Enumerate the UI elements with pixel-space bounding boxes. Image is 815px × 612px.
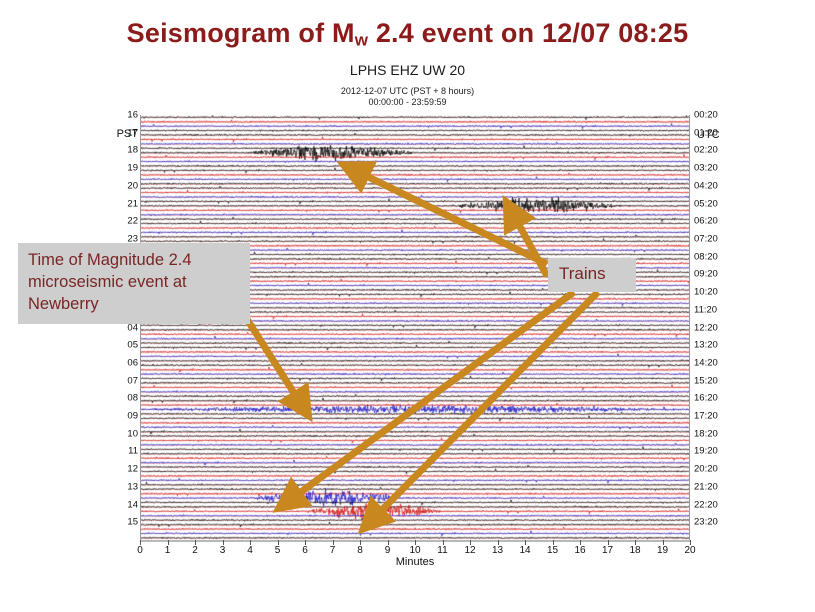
axis-right-tick: 06:20 — [694, 216, 718, 227]
axis-left-tick: 11 — [128, 446, 138, 457]
axis-bottom-label: 20 — [684, 545, 695, 556]
title-text-pre: Seismogram of M — [127, 18, 355, 48]
axis-right-tick: 12:20 — [694, 322, 718, 333]
axis-right-tick: 23:20 — [694, 517, 718, 528]
axis-bottom-label: 10 — [409, 545, 420, 556]
axis-bottom-label: 19 — [657, 545, 668, 556]
axis-left-tick: 15 — [127, 517, 138, 528]
axis-bottom-label: 13 — [492, 545, 503, 556]
axis-bottom-label: 16 — [574, 545, 585, 556]
axis-right-tick: 13:20 — [694, 340, 718, 351]
axis-bottom-label: 0 — [137, 545, 143, 556]
axis-right-utc: 00:2001:2002:2003:2004:2005:2006:2007:20… — [692, 115, 736, 540]
axis-left-tick: 08 — [127, 393, 138, 404]
date-line: 2012-12-07 UTC (PST + 8 hours) — [0, 86, 815, 97]
axis-right-tick: 03:20 — [694, 163, 718, 174]
axis-right-tick: 00:20 — [694, 110, 718, 121]
axis-bottom-label: 18 — [629, 545, 640, 556]
axis-right-tick: 11:20 — [694, 304, 717, 315]
axis-bottom-label: 9 — [385, 545, 391, 556]
axis-right-tick: 22:20 — [694, 499, 718, 510]
time-range-line: 00:00:00 - 23:59:59 — [0, 97, 815, 108]
axis-bottom-label: 2 — [192, 545, 198, 556]
axis-left-tick: 10 — [127, 428, 138, 439]
axis-right-tick: 05:20 — [694, 198, 718, 209]
axis-bottom-label: 14 — [519, 545, 530, 556]
axis-right-tick: 15:20 — [694, 375, 718, 386]
axis-bottom-label: 8 — [357, 545, 363, 556]
axis-right-tick: 20:20 — [694, 464, 718, 475]
axis-left-tick: 14 — [127, 499, 138, 510]
axis-bottom-label: 12 — [464, 545, 475, 556]
axis-bottom-label: 6 — [302, 545, 308, 556]
axis-bottom-label: 7 — [330, 545, 336, 556]
axis-bottom-label: 15 — [547, 545, 558, 556]
axis-left-tick: 18 — [127, 145, 138, 156]
axis-bottom-label: 4 — [247, 545, 253, 556]
axis-right-tick: 08:20 — [694, 251, 718, 262]
axis-left-tick: 13 — [127, 481, 138, 492]
page-title: Seismogram of Mw 2.4 event on 12/07 08:2… — [0, 18, 815, 51]
axis-left-tick: 19 — [127, 163, 138, 174]
axis-left-title: PST — [104, 128, 138, 140]
axis-bottom-label: 3 — [220, 545, 226, 556]
axis-right-tick: 07:20 — [694, 233, 718, 244]
axis-right-tick: 09:20 — [694, 269, 718, 280]
axis-right-tick: 14:20 — [694, 357, 718, 368]
axis-right-tick: 19:20 — [694, 446, 718, 457]
annotation-newberry: Time of Magnitude 2.4 microseismic event… — [18, 243, 250, 324]
station-code: LPHS EHZ UW 20 — [0, 62, 815, 78]
axis-left-tick: 20 — [127, 180, 138, 191]
seismogram-traces — [140, 115, 690, 540]
axis-left-tick: 06 — [127, 357, 138, 368]
title-text-post: 2.4 event on 12/07 08:25 — [368, 18, 688, 48]
axis-right-tick: 02:20 — [694, 145, 718, 156]
axis-bottom-label: 1 — [165, 545, 171, 556]
axis-bottom-label: 11 — [437, 545, 447, 556]
axis-bottom-label: 17 — [602, 545, 613, 556]
axis-left-tick: 21 — [127, 198, 138, 209]
axis-left-tick: 16 — [127, 110, 138, 121]
axis-right-tick: 16:20 — [694, 393, 718, 404]
axis-left-tick: 09 — [127, 411, 138, 422]
axis-right-tick: 21:20 — [694, 481, 718, 492]
date-time-caption: 2012-12-07 UTC (PST + 8 hours) 00:00:00 … — [0, 86, 815, 109]
axis-bottom-label: 5 — [275, 545, 281, 556]
axis-bottom-title: Minutes — [140, 556, 690, 568]
axis-left-tick: 12 — [127, 464, 138, 475]
axis-right-tick: 18:20 — [694, 428, 718, 439]
axis-left-tick: 07 — [127, 375, 138, 386]
axis-right-tick: 04:20 — [694, 180, 718, 191]
title-subscript: w — [355, 31, 368, 50]
axis-right-tick: 17:20 — [694, 411, 718, 422]
slide-canvas: Seismogram of Mw 2.4 event on 12/07 08:2… — [0, 0, 815, 612]
axis-right-title: UTC — [697, 129, 720, 141]
axis-left-tick: 05 — [127, 340, 138, 351]
helicorder-plot — [140, 115, 690, 540]
axis-right-tick: 10:20 — [694, 287, 718, 298]
axis-left-tick: 22 — [127, 216, 138, 227]
axis-left-pst: 1617181920212223000102030405060708091011… — [104, 115, 138, 540]
annotation-trains: Trains — [548, 258, 636, 292]
